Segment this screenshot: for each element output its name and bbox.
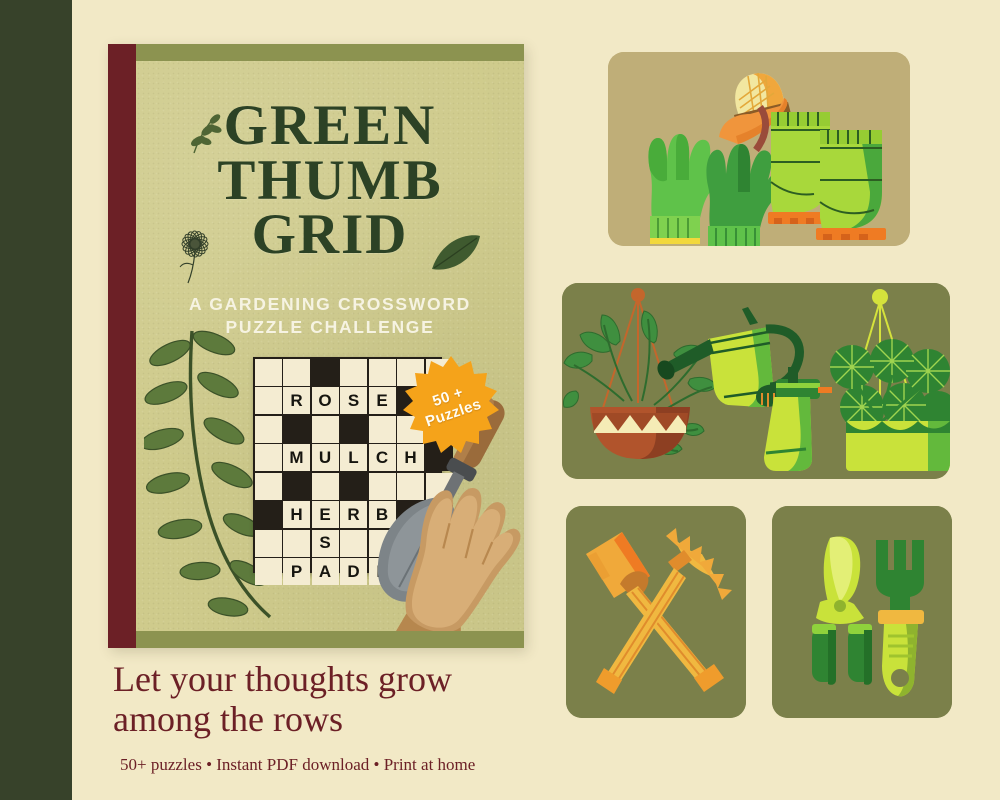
poster-root: ROSEMULCHHERBSPADE [0,0,1000,800]
crossword-cell [283,359,310,386]
crossword-cell: H [283,501,310,528]
tagline: Let your thoughts grow among the rows [113,659,583,740]
tagline-line-1: Let your thoughts grow [113,659,583,699]
title-line-2: THUMB [136,154,524,209]
puzzle-count-badge: 50 + Puzzles [400,355,502,457]
crossword-cell [312,473,339,500]
shovel-and-rake-illustration [566,506,746,718]
crossword-cell-block [283,416,310,443]
crossword-cell [255,444,282,471]
kicker-text: 50+ puzzles • Instant PDF download • Pri… [120,755,590,775]
crossword-cell: S [340,387,367,414]
crossword-cell-block [340,473,367,500]
crossword-cell: M [283,444,310,471]
crossword-cell-block [340,416,367,443]
book-cover: ROSEMULCHHERBSPADE [108,44,524,648]
crossword-cell [283,530,310,557]
crossword-cell-block [255,501,282,528]
crossword-cell [340,530,367,557]
crossword-cell: R [340,501,367,528]
crossword-cell: U [312,444,339,471]
title-line-1: GREEN [136,99,524,154]
crossword-cell-block [312,359,339,386]
tagline-line-2: among the rows [113,699,583,739]
crossword-cell [340,359,367,386]
crossword-cell [255,359,282,386]
crossword-cell [255,416,282,443]
crossword-cell [312,416,339,443]
plants-and-watering-illustration [562,283,950,479]
crossword-cell: R [283,387,310,414]
left-accent-strip [0,0,72,800]
gardening-gear-illustration [608,52,910,246]
rain-boots-icon [768,112,886,240]
crossword-cell: P [283,558,310,585]
crossword-cell-block [283,473,310,500]
pruners-and-fork-illustration [772,506,952,718]
crossword-cell: L [340,444,367,471]
title-line-3: GRID [136,208,524,263]
leather-glove-icon [382,477,522,631]
crossword-cell [255,473,282,500]
starburst-icon [400,355,502,457]
crossword-cell [255,558,282,585]
crossword-cell: A [312,558,339,585]
crossword-cell: O [312,387,339,414]
book-title: GREEN THUMB GRID [136,99,524,263]
crossword-cell [255,387,282,414]
crossword-cell [255,530,282,557]
book-front-face: ROSEMULCHHERBSPADE [136,61,524,631]
book-subtitle: A GARDENING CROSSWORD PUZZLE CHALLENGE [166,293,494,339]
crossword-cell [369,359,396,386]
crossword-cell: S [312,530,339,557]
book-spine [108,44,136,648]
crossword-cell: E [312,501,339,528]
crossword-cell: D [340,558,367,585]
